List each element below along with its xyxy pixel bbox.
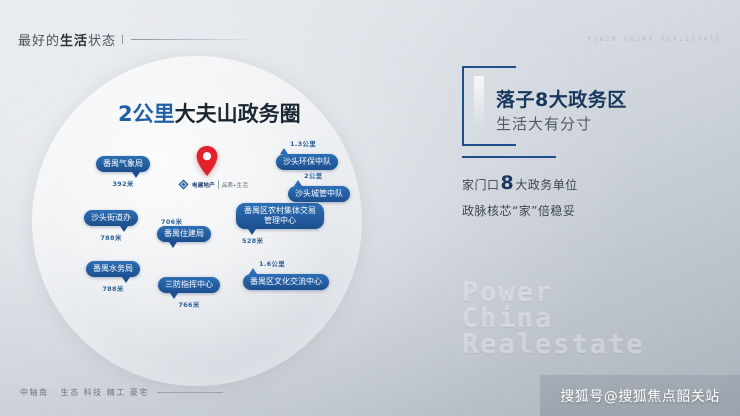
poi-label: 沙头环保中队 [276, 154, 338, 170]
watermark-text: Power China Realestate [462, 280, 645, 358]
poi-chengguan[interactable]: 2公里 沙头城管中队 [288, 170, 350, 202]
poi-nongcun[interactable]: 番禺区农村集体交易管理中心 528米 [236, 203, 324, 245]
header-right-code: POWER CHINA REALESTATE [588, 36, 722, 43]
watermark-line-3: Realestate [462, 332, 645, 358]
poi-label: 沙头城管中队 [288, 186, 350, 202]
header-rule [131, 39, 259, 40]
poi-label: 番禺气象局 [96, 156, 150, 172]
map-title-km: 2公里 [118, 102, 175, 126]
map-pin-icon [196, 146, 218, 176]
poi-sanfang[interactable]: 三防指挥中心 766米 [158, 277, 220, 309]
panel-bracket-gloss [474, 76, 484, 128]
poi-distance: 766米 [178, 299, 199, 309]
poi-distance: 2公里 [304, 170, 322, 180]
map-title-rest: 大夫山政务圈 [175, 102, 301, 126]
poi-wenhua[interactable]: 1.6公里 番禺区文化交流中心 [243, 258, 329, 290]
footer-tagline: 中轴南 · 生态 科技 精工 豪宅 [20, 387, 149, 398]
header-suffix: 状态 [88, 34, 116, 49]
footer-rule [157, 392, 223, 393]
logo-name: 电建地产 [192, 181, 215, 189]
panel-divider [462, 156, 556, 158]
center-logo: 电建地产 品质+生活 [178, 177, 254, 192]
poi-distance: 706米 [161, 216, 182, 226]
poi-label: 番禺区文化交流中心 [243, 274, 329, 290]
panel-line2: 政脉核芯“家”倍稳妥 [462, 202, 575, 219]
poi-distance: 1.6公里 [259, 258, 285, 268]
poi-distance: 392米 [112, 178, 133, 188]
poi-label: 沙头街道办 [84, 210, 138, 226]
poi-huanbao[interactable]: 1.3公里 沙头环保中队 [276, 138, 338, 170]
souhu-watermark-bar: 搜狐号@搜狐焦点韶关站 [540, 375, 740, 416]
poi-label: 番禺水务局 [86, 261, 140, 277]
poi-shatoujiedao[interactable]: 沙头街道办 788米 [84, 210, 138, 242]
header-title: 最好的生活状态 [18, 30, 116, 49]
poi-qixiangju[interactable]: 番禺气象局 392米 [96, 156, 150, 188]
header-tick [122, 35, 123, 44]
watermark-line-2: China [462, 306, 645, 332]
poi-tail [169, 242, 177, 248]
brand-diamond-icon [178, 179, 189, 190]
poi-label: 番禺住建局 [157, 226, 211, 242]
logo-divider [218, 180, 219, 189]
header: 最好的生活状态 [18, 30, 259, 49]
poi-distance: 1.3公里 [290, 138, 316, 148]
poi-tail [170, 293, 178, 299]
poi-zhujianju[interactable]: 706米 番禺住建局 [157, 216, 211, 248]
panel-subtitle: 生活大有分寸 [496, 113, 592, 134]
panel-line1-number: 8 [500, 172, 516, 194]
slide-root: 最好的生活状态 POWER CHINA REALESTATE 2公里大夫山政务圈… [0, 0, 740, 416]
footer: 中轴南 · 生态 科技 精工 豪宅 [20, 387, 223, 398]
panel-title: 落子8大政务区 [496, 85, 627, 112]
header-prefix: 最好的 [18, 34, 60, 49]
poi-distance: 528米 [242, 235, 263, 245]
poi-label: 三防指挥中心 [158, 277, 220, 293]
header-highlight: 生活 [60, 34, 88, 49]
poi-distance: 788米 [100, 232, 121, 242]
panel-line1-post: 大政务单位 [515, 176, 578, 193]
logo-slogan: 品质+生活 [222, 181, 248, 189]
poi-distance: 788米 [102, 283, 123, 293]
poi-label: 番禺区农村集体交易管理中心 [236, 203, 324, 229]
map-title: 2公里大夫山政务圈 [118, 98, 301, 128]
poi-shuiwuju[interactable]: 番禺水务局 788米 [86, 261, 140, 293]
souhu-watermark-text: 搜狐号@搜狐焦点韶关站 [560, 386, 720, 406]
panel-line1-pre: 家门口 [462, 176, 500, 193]
panel-line1: 家门口8大政务单位 [462, 172, 578, 194]
